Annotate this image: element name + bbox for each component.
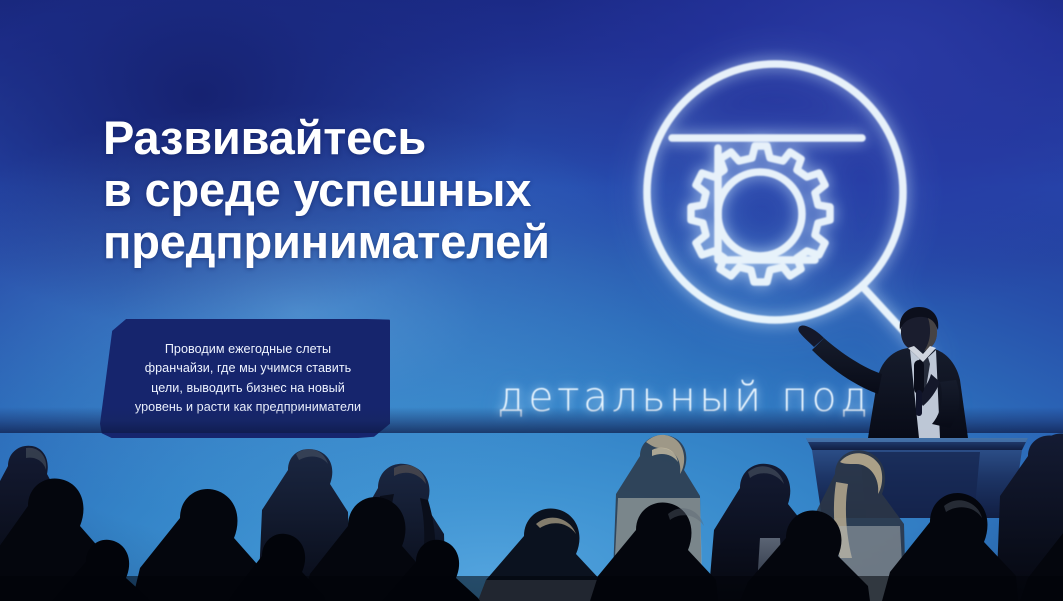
audience-silhouettes	[0, 426, 1063, 601]
presentation-slide: детальный подход Развивайтесь в среде ус…	[0, 0, 1063, 601]
